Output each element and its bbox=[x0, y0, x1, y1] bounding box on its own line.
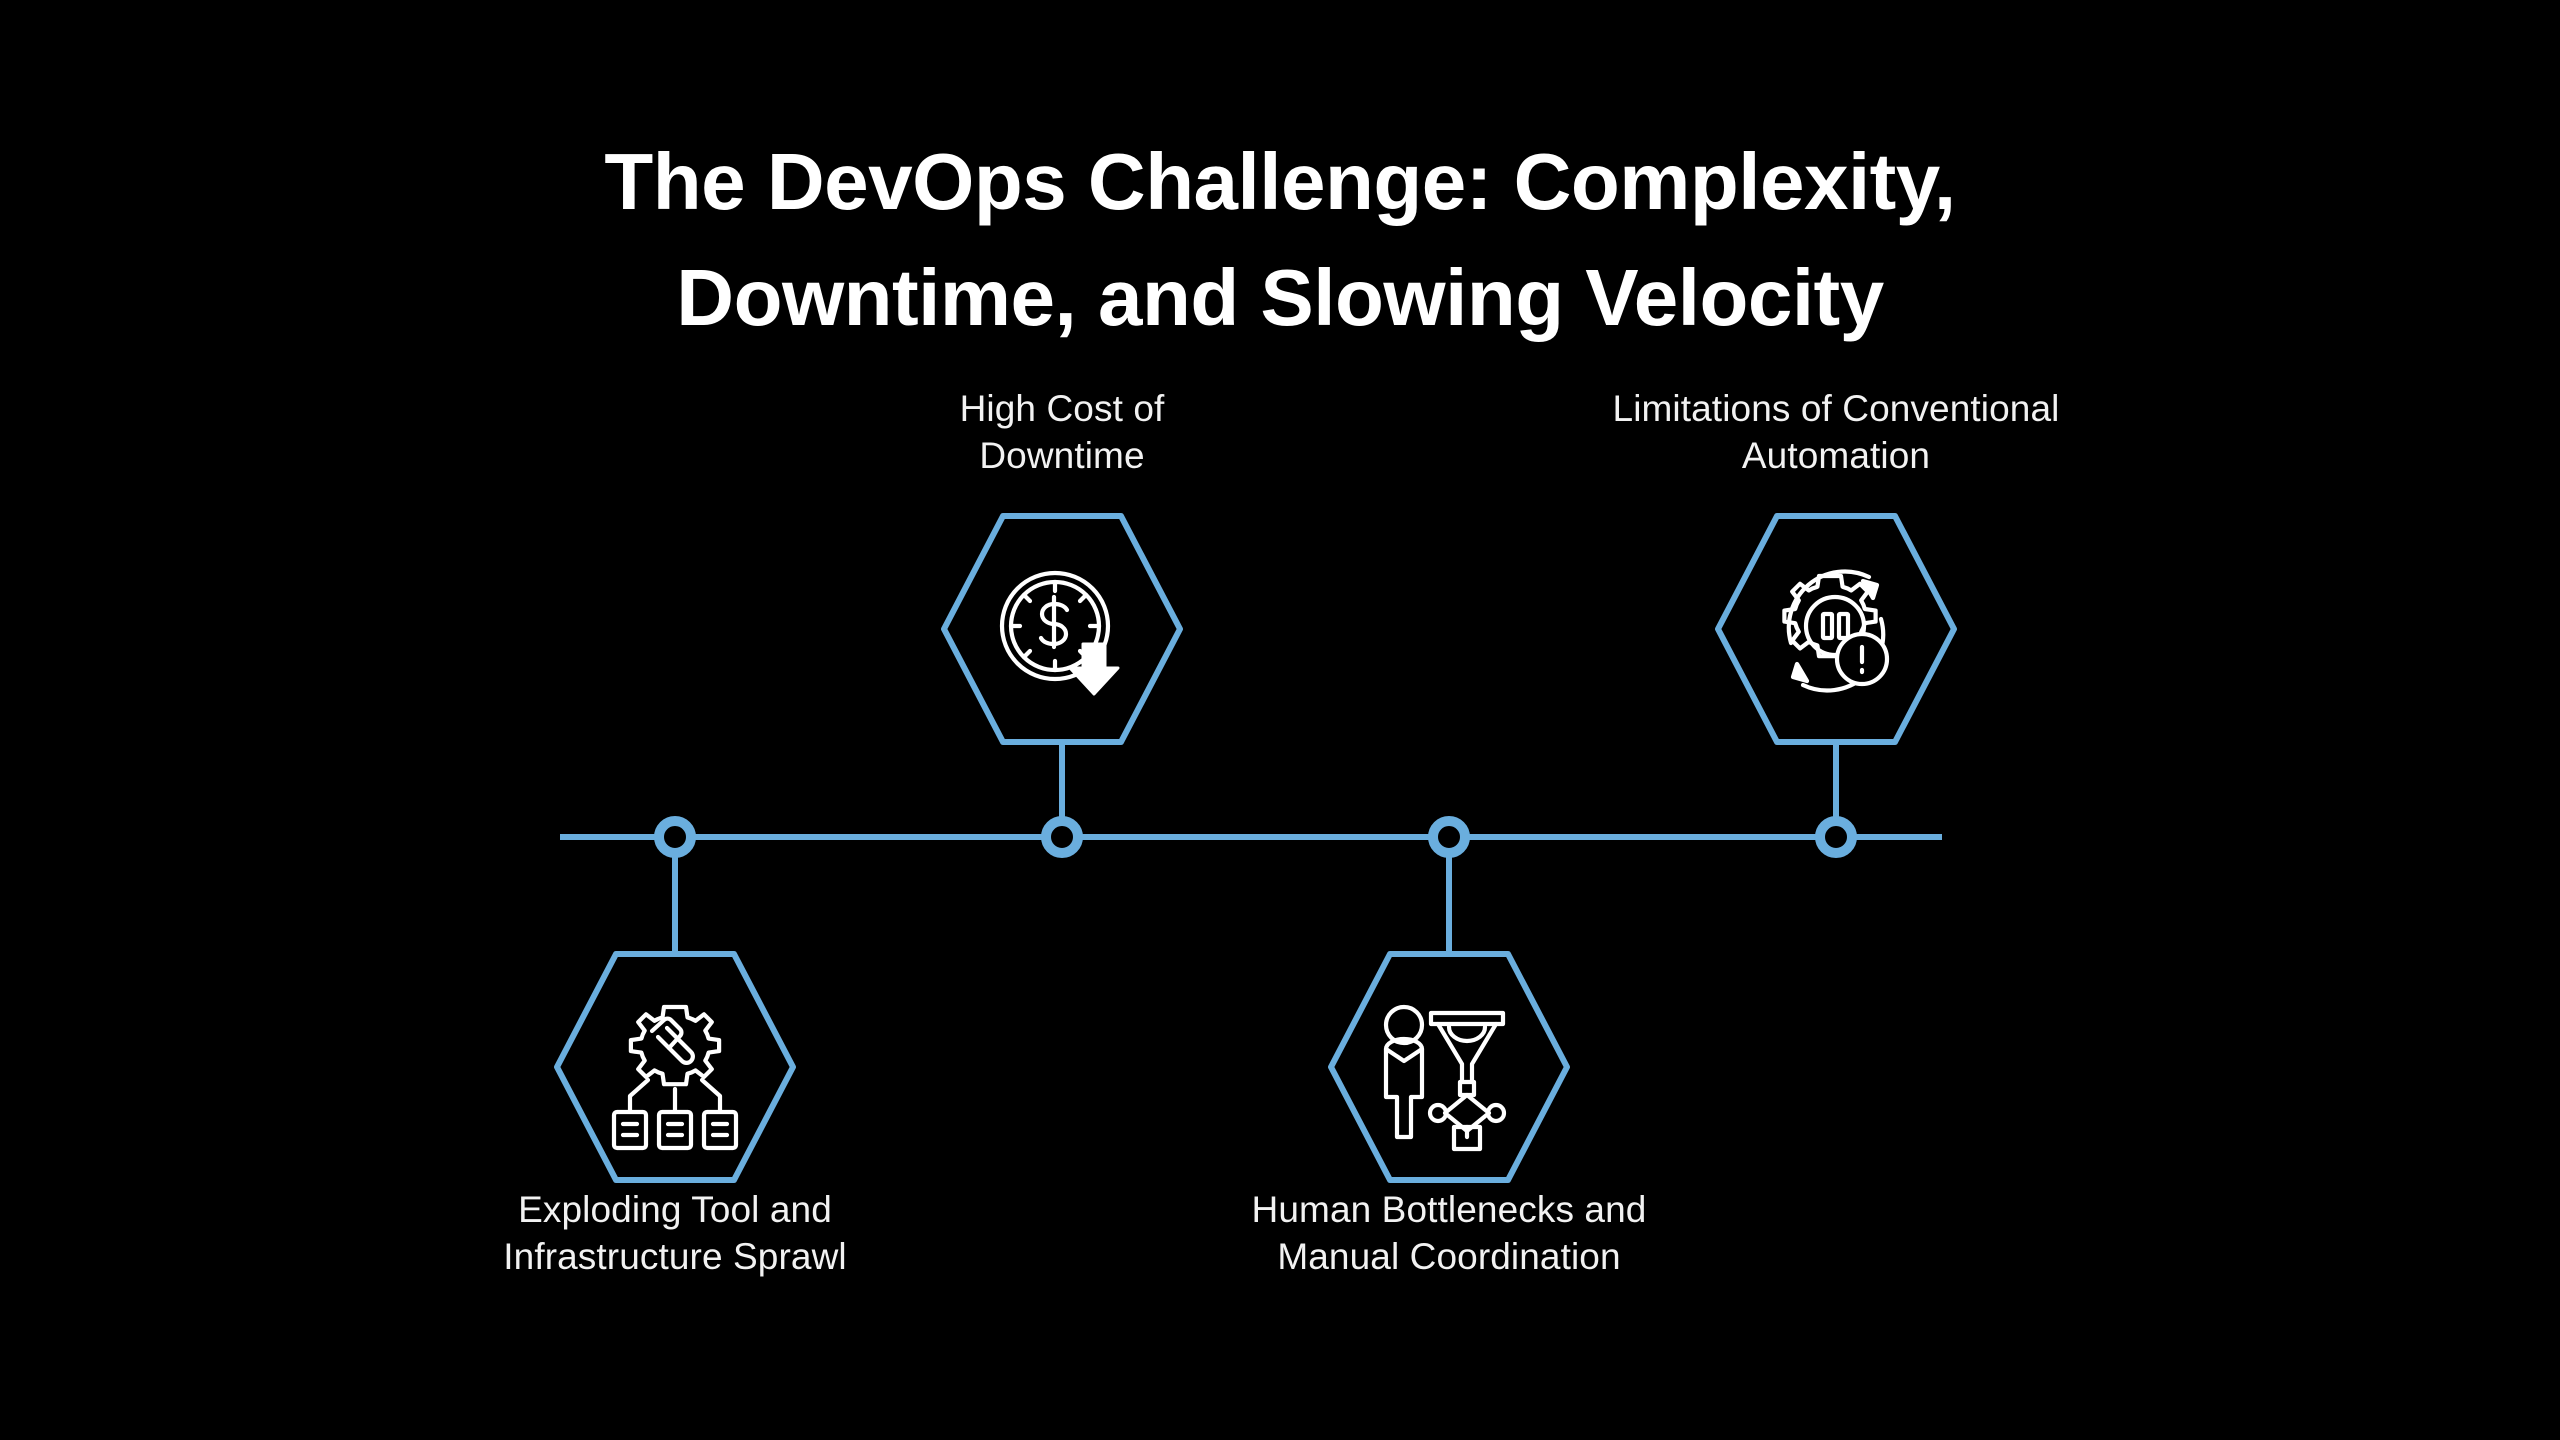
timeline-node-3[interactable] bbox=[1428, 816, 1470, 858]
timeline-label-4-line-1: Limitations of Conventional bbox=[1613, 388, 2060, 429]
timeline-label-1: Exploding Tool and Infrastructure Sprawl bbox=[445, 1186, 905, 1281]
timeline-label-3-line-2: Manual Coordination bbox=[1277, 1236, 1620, 1277]
slide-canvas: The DevOps Challenge: Complexity, Downti… bbox=[0, 0, 2560, 1440]
timeline-node-1[interactable] bbox=[654, 816, 696, 858]
timeline-label-3: Human Bottlenecks and Manual Coordinatio… bbox=[1219, 1186, 1679, 1281]
timeline-hexagon-2[interactable] bbox=[931, 511, 1193, 747]
page-title-line-1: The DevOps Challenge: Complexity, bbox=[380, 142, 2180, 222]
timeline-hexagon-4[interactable] bbox=[1705, 511, 1967, 747]
timeline-node-4[interactable] bbox=[1815, 816, 1857, 858]
timeline-node-2[interactable] bbox=[1041, 816, 1083, 858]
page-title-line-2: Downtime, and Slowing Velocity bbox=[380, 258, 2180, 338]
gear-hammer-branching-nodes-icon bbox=[614, 1007, 736, 1148]
timeline-label-3-line-1: Human Bottlenecks and bbox=[1252, 1189, 1647, 1230]
timeline-hexagon-1[interactable] bbox=[544, 949, 806, 1185]
page-title: The DevOps Challenge: Complexity, Downti… bbox=[380, 142, 2180, 338]
timeline-axis bbox=[560, 834, 1942, 840]
hexagon-outline-3 bbox=[1331, 954, 1567, 1180]
clock-dollar-down-arrow-icon bbox=[1002, 573, 1118, 694]
timeline-label-4: Limitations of Conventional Automation bbox=[1606, 385, 2066, 480]
timeline-label-2-line-1: High Cost of bbox=[960, 388, 1165, 429]
gear-pause-refresh-alert-icon bbox=[1784, 572, 1887, 691]
timeline-label-1-line-2: Infrastructure Sprawl bbox=[503, 1236, 846, 1277]
timeline-label-4-line-2: Automation bbox=[1742, 435, 1930, 476]
timeline-label-2: High Cost of Downtime bbox=[832, 385, 1292, 480]
timeline-label-2-line-2: Downtime bbox=[979, 435, 1144, 476]
hexagon-outline-4 bbox=[1718, 516, 1954, 742]
timeline-hexagon-3[interactable] bbox=[1318, 949, 1580, 1185]
timeline-label-1-line-1: Exploding Tool and bbox=[518, 1189, 832, 1230]
person-funnel-bottleneck-icon bbox=[1386, 1007, 1504, 1149]
